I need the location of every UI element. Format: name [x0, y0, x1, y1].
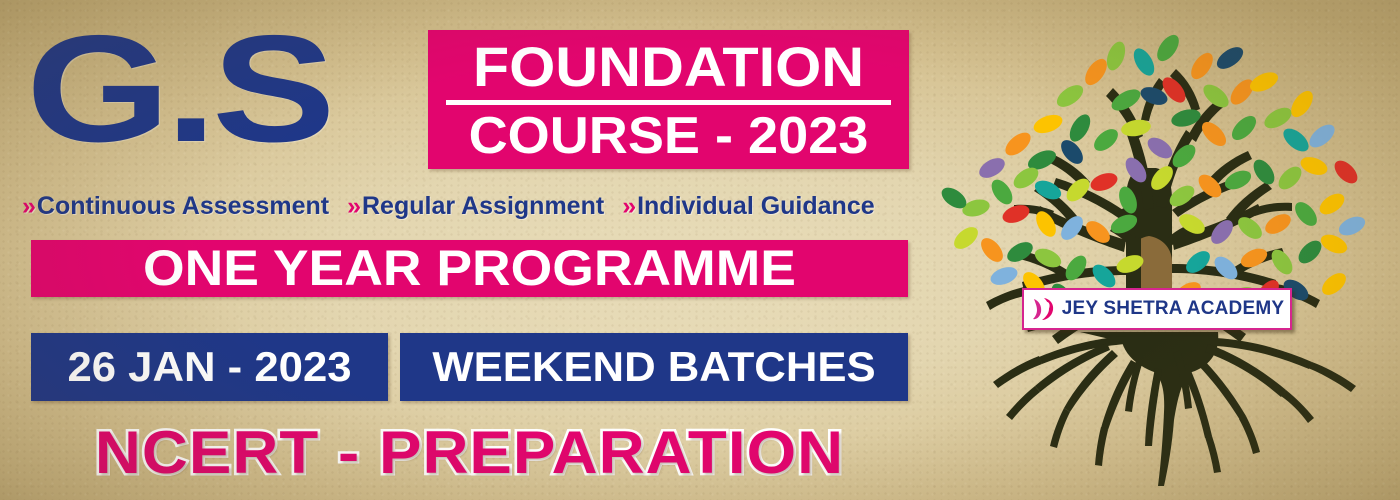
batch-type-box: WEEKEND BATCHES [400, 333, 908, 401]
feature-item-continuous-assessment: »Continuous Assessment [22, 190, 329, 222]
js-monogram-icon [1030, 295, 1056, 323]
start-date-box: 26 JAN - 2023 [31, 333, 388, 401]
academy-logo-badge[interactable]: JEY SHETRA ACADEMY [1022, 288, 1292, 330]
tree-icon [930, 0, 1400, 500]
feature-label: Regular Assignment [362, 192, 604, 220]
headline-course-year: COURSE - 2023 [418, 106, 918, 166]
footer-tagline: NCERT - PREPARATION [5, 417, 935, 489]
foundation-course-box: FOUNDATION COURSE - 2023 [428, 30, 909, 169]
start-date-label: 26 JAN - 2023 [24, 333, 395, 401]
feature-label: Continuous Assessment [37, 192, 329, 220]
academy-name: JEY SHETRA ACADEMY [1062, 299, 1285, 319]
info-box-row: 26 JAN - 2023 WEEKEND BATCHES [31, 333, 911, 401]
chevron-double-right-icon: » [622, 192, 636, 220]
feature-item-regular-assignment: »Regular Assignment [347, 190, 604, 222]
brand-initials: G.S [26, 13, 331, 165]
banner-left-content: G.S FOUNDATION COURSE - 2023 »Continuous… [0, 0, 930, 500]
headline-divider [446, 100, 891, 105]
programme-label: ONE YEAR PROGRAMME [0, 240, 938, 297]
tree-artwork [930, 0, 1400, 500]
feature-item-individual-guidance: »Individual Guidance [622, 190, 874, 222]
feature-label: Individual Guidance [637, 192, 875, 220]
programme-bar: ONE YEAR PROGRAMME [31, 240, 908, 297]
feature-list: »Continuous Assessment »Regular Assignme… [22, 190, 922, 222]
chevron-double-right-icon: » [22, 192, 36, 220]
headline-foundation: FOUNDATION [414, 34, 924, 100]
promo-banner: G.S FOUNDATION COURSE - 2023 »Continuous… [0, 0, 1400, 500]
batch-type-label: WEEKEND BATCHES [390, 333, 918, 401]
chevron-double-right-icon: » [347, 192, 361, 220]
